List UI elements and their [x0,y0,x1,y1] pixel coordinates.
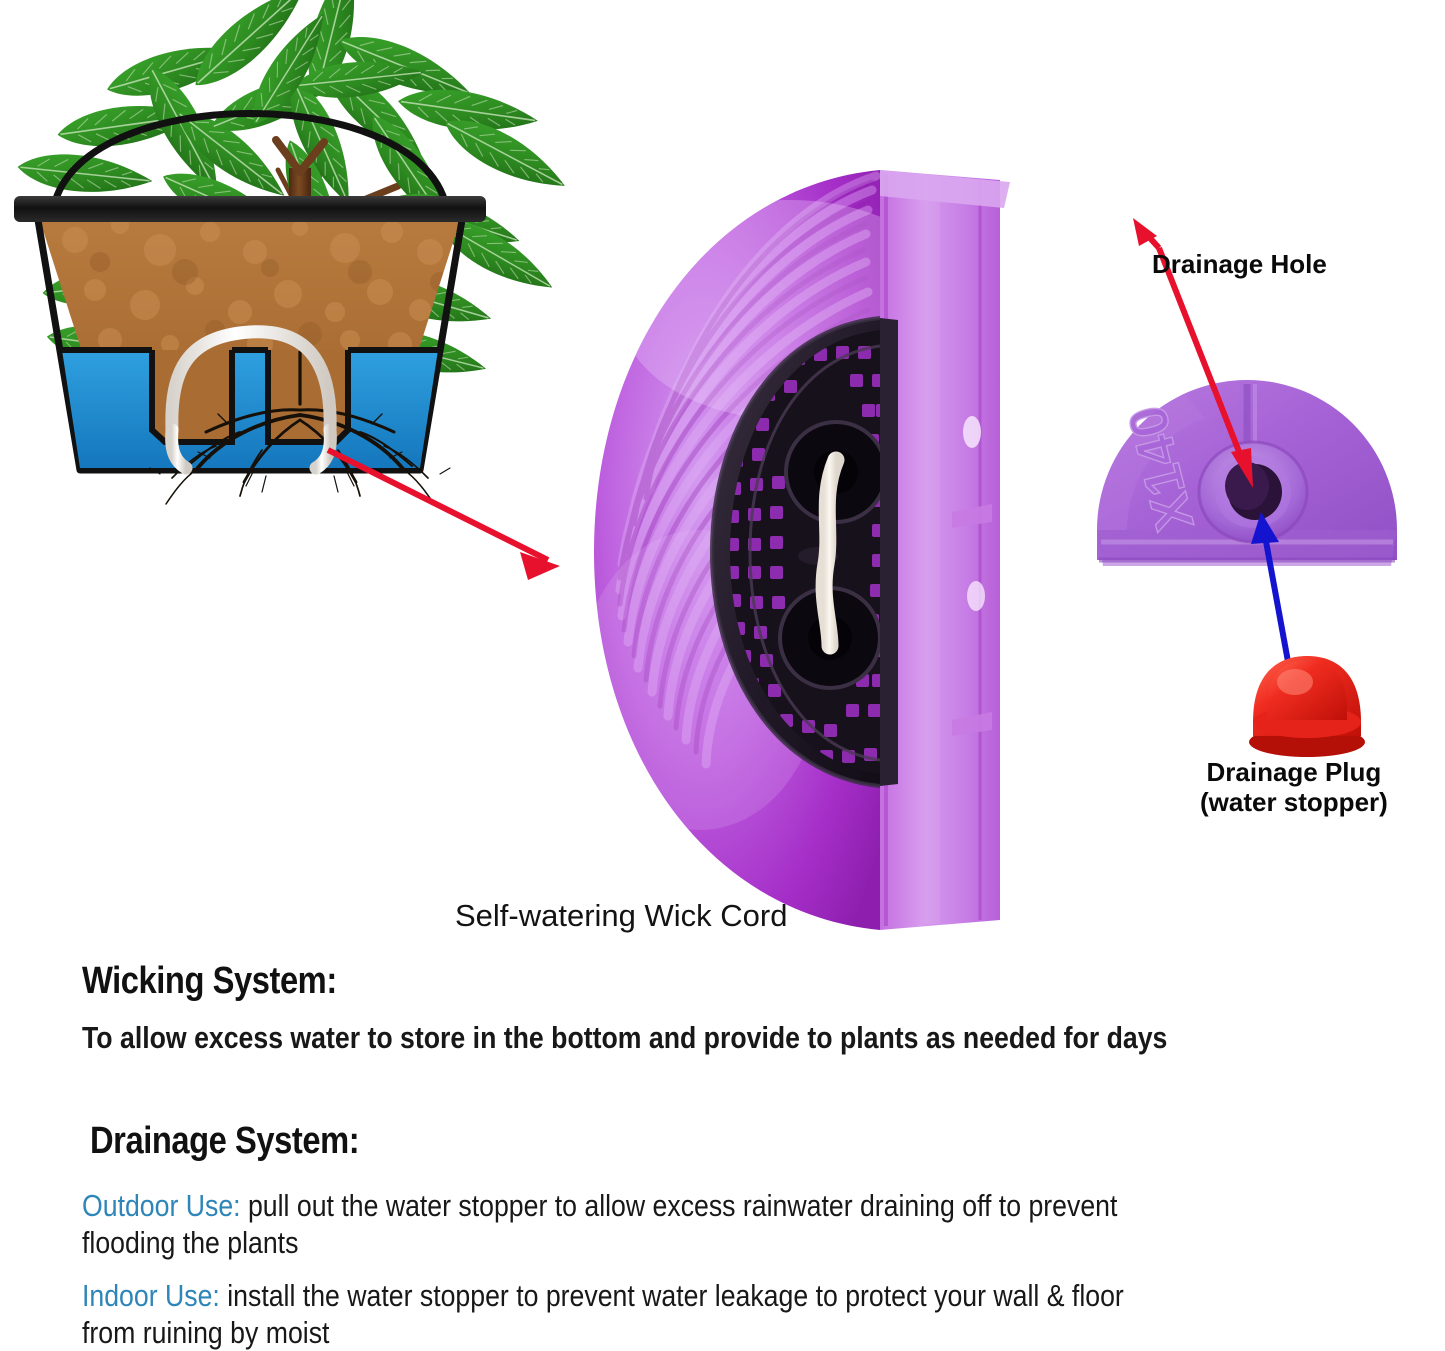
outdoor-use-label: Outdoor Use: [82,1188,241,1223]
drainage-plug-label-line2: (water stopper) [1200,788,1388,818]
drainage-system-heading: Drainage System: [90,1120,359,1163]
description-text-block: Wicking System: To allow excess water to… [0,940,1445,1338]
drainage-plug-label: Drainage Plug (water stopper) [1200,758,1388,817]
drainage-plug [1249,656,1365,757]
pot-rim [14,196,486,222]
outdoor-use-paragraph: Outdoor Use: pull out the water stopper … [82,1188,1286,1261]
potted-plant-illustration [0,0,600,940]
outdoor-use-text-1: pull out the water stopper to allow exce… [241,1188,1118,1223]
wicking-system-heading: Wicking System: [82,960,337,1003]
planter-wick-cord [824,460,836,646]
drainage-hole-label: Drainage Hole [1152,250,1327,280]
indoor-use-paragraph: Indoor Use: install the water stopper to… [82,1278,1293,1351]
red-arrow-to-wick-cord [328,450,560,580]
planter-half-section-photo [580,160,1070,940]
drainage-detail-panel: X140 [1075,230,1445,840]
outdoor-use-text-2: flooding the plants [82,1225,1117,1262]
plant-pot-svg [0,0,600,940]
wicking-system-line-1: To allow excess water to store in the bo… [82,1020,1167,1057]
indoor-use-text-2: from ruining by moist [82,1315,1124,1351]
pot-cross-section [14,196,486,504]
planter-svg [580,160,1070,940]
indoor-use-text-1: install the water stopper to prevent wat… [220,1278,1124,1313]
indoor-use-label: Indoor Use: [82,1278,220,1313]
drainage-detail-svg: X140 [1075,230,1445,840]
drainage-plug-label-line1: Drainage Plug [1200,758,1388,788]
